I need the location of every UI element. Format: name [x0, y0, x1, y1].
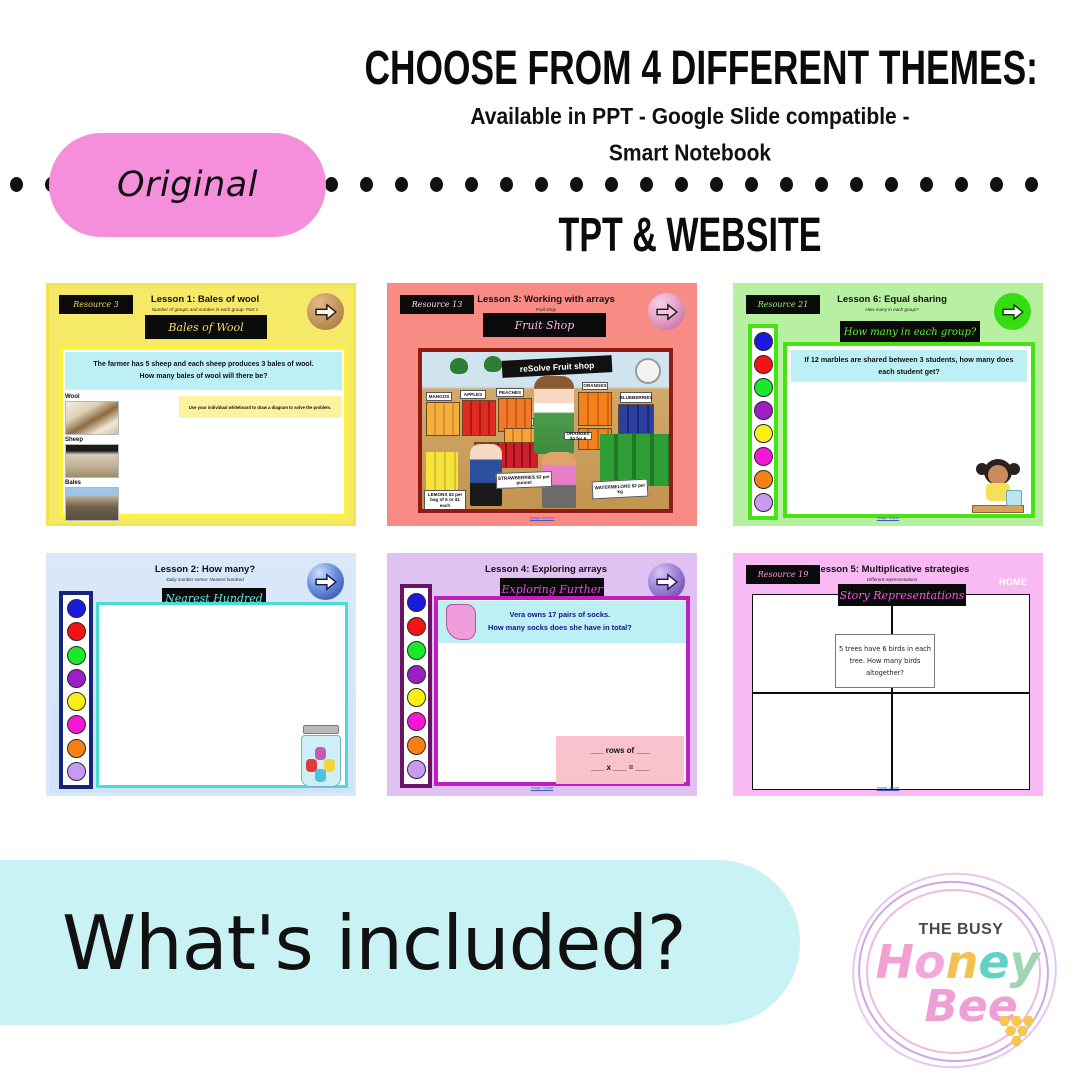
- arrow-right-icon[interactable]: [994, 293, 1031, 330]
- stall-label-apples: APPLES: [460, 390, 486, 399]
- grid-horizontal-line: [753, 692, 1029, 694]
- blueberry-crate: [618, 404, 654, 434]
- divider-dot: [500, 177, 513, 192]
- slide-thumbnail-lesson-1[interactable]: Resource 3 Lesson 1: Bales of wool Numbe…: [46, 283, 356, 526]
- lesson-subtitle: Fruit shop: [456, 307, 636, 312]
- slide-banner: Story Representations: [838, 584, 966, 606]
- honeycomb-icon: [999, 1016, 1039, 1046]
- stall-label-blueberries: BLUEBERRIES: [620, 392, 652, 403]
- wall-clock-icon: [635, 358, 661, 384]
- lesson-title: Lesson 3: Working with arrays: [456, 294, 636, 305]
- color-dot-orange[interactable]: [754, 470, 773, 489]
- divider-dot: [780, 177, 793, 192]
- image-credit[interactable]: Image: reSolve: [390, 516, 694, 520]
- lesson-title: Lesson 2: How many?: [115, 564, 295, 575]
- peach-crate: [498, 398, 532, 432]
- arrow-right-glyph: [315, 303, 337, 321]
- slide-banner: Bales of Wool: [145, 315, 267, 339]
- wool-photo: [65, 401, 119, 435]
- color-dot-magenta[interactable]: [67, 715, 86, 734]
- lesson-title: Lesson 6: Equal sharing: [802, 294, 982, 305]
- fruit-shop-illustration: reSolve Fruit shop MANGOS APPLES PEACHES…: [418, 348, 673, 513]
- plant-icon: [450, 358, 468, 374]
- slide-preview-grid: Resource 3 Lesson 1: Bales of wool Numbe…: [0, 283, 1080, 813]
- color-dot-blue[interactable]: [67, 599, 86, 618]
- divider-dot: [1025, 177, 1038, 192]
- lesson-subtitle: Daily number sense: Nearest hundred: [115, 577, 295, 582]
- resource-badge-label: Resource 21: [758, 301, 809, 309]
- lesson-title: Lesson 4: Exploring arrays: [456, 564, 636, 575]
- photo-label-bales: Bales: [65, 480, 119, 486]
- shop-sign: reSolve Fruit shop: [502, 355, 613, 378]
- slide-banner: How many in each group?: [840, 321, 980, 343]
- whats-included-label: What's included?: [0, 899, 686, 987]
- divider-dot: [955, 177, 968, 192]
- slide-banner-label: Fruit Shop: [515, 319, 575, 332]
- price-tag-strawberries: STRAWBERRIES $3 per punnet: [496, 471, 553, 489]
- divider-dot: [10, 177, 23, 192]
- bales-photo: [65, 487, 119, 521]
- footer-section: What's included? THE BUSY Honey Bee: [0, 855, 1080, 1080]
- resource-badge-label: Resource 13: [412, 301, 463, 309]
- slide-banner-label: How many in each group?: [844, 327, 977, 338]
- color-dot-blue[interactable]: [407, 593, 426, 612]
- four-quadrant-grid: [752, 594, 1030, 790]
- question-strip: The farmer has 5 sheep and each sheep pr…: [65, 352, 342, 390]
- instruction-note-text: Use your individual whiteboard to draw a…: [189, 405, 331, 410]
- arrow-right-icon[interactable]: [307, 293, 344, 330]
- subtitle-line-1: Available in PPT - Google Slide compatib…: [340, 100, 1040, 136]
- stall-label-peaches: PEACHES: [496, 388, 524, 397]
- lesson-title: Lesson 5: Multiplicative strategies: [802, 564, 982, 575]
- image-credit[interactable]: Image: Clipart: [390, 786, 694, 790]
- divider-dot: [535, 177, 548, 192]
- question-line-2: How many bales of wool will there be?: [140, 371, 268, 383]
- apple-crate: [462, 400, 496, 436]
- color-dot-yellow[interactable]: [754, 424, 773, 443]
- color-dot-red[interactable]: [67, 622, 86, 641]
- shopkeeper-figure: [534, 376, 574, 454]
- theme-pill-label: Original: [117, 165, 258, 205]
- color-dot-green[interactable]: [67, 646, 86, 665]
- divider-dot: [605, 177, 618, 192]
- color-dot-yellow[interactable]: [407, 688, 426, 707]
- instruction-note: Use your individual whiteboard to draw a…: [179, 396, 341, 418]
- mango-crate: [426, 402, 460, 436]
- slide-banner-label: Bales of Wool: [168, 321, 243, 334]
- divider-dot: [885, 177, 898, 192]
- color-dot-red[interactable]: [754, 355, 773, 374]
- divider-dot: [430, 177, 443, 192]
- image-credit[interactable]: Image: Clipart: [736, 786, 1040, 790]
- price-tag-watermelons: WATERMELONS $2 per kg: [592, 479, 649, 500]
- divider-dot: [570, 177, 583, 192]
- divider-dot: [675, 177, 688, 192]
- slide-banner-label: Story Representations: [840, 589, 965, 602]
- divider-dot: [325, 177, 338, 192]
- image-credit[interactable]: Image: Clipart: [736, 516, 1040, 520]
- stall-label-oranges: ORANGES: [582, 382, 608, 390]
- divider-dot: [710, 177, 723, 192]
- slide-thumbnail-lesson-4[interactable]: Lesson 4: Exploring arrays Exploring Fur…: [387, 553, 697, 796]
- divider-dot: [850, 177, 863, 192]
- orange-crate-top: [578, 392, 612, 426]
- color-dot-lilac[interactable]: [754, 493, 773, 512]
- color-dot-column[interactable]: [59, 591, 93, 789]
- color-dot-purple[interactable]: [407, 665, 426, 684]
- theme-pill-original[interactable]: Original: [49, 133, 326, 237]
- resource-badge-label: Resource 3: [73, 301, 119, 309]
- price-tag-lemons: LEMONS $3 per bag of 6 or $1 each: [424, 490, 466, 510]
- arrow-right-glyph: [656, 303, 678, 321]
- arrow-right-icon[interactable]: [648, 563, 685, 600]
- photo-stack: Wool Sheep Bales: [65, 392, 119, 521]
- color-dot-purple[interactable]: [754, 401, 773, 420]
- color-dot-magenta[interactable]: [754, 447, 773, 466]
- question-line-2: How many socks does she have in total?: [488, 622, 632, 635]
- divider-dot: [360, 177, 373, 192]
- gummy-bear-jar-illustration: [301, 725, 341, 787]
- sock-icon: [446, 604, 476, 640]
- lesson-subtitle: Number of groups and number in each grou…: [115, 307, 295, 312]
- sheep-photo: [65, 444, 119, 478]
- color-dot-column[interactable]: [400, 584, 432, 788]
- color-dot-green[interactable]: [407, 641, 426, 660]
- slide-banner: Fruit Shop: [483, 313, 606, 337]
- arrow-right-glyph: [656, 573, 678, 591]
- color-dot-magenta[interactable]: [407, 712, 426, 731]
- resource-badge-label: Resource 19: [758, 571, 809, 579]
- color-dot-green[interactable]: [754, 378, 773, 397]
- divider-dot: [395, 177, 408, 192]
- girl-with-marbles-illustration: [970, 457, 1026, 513]
- story-card-text: 5 trees have 6 birds in each tree. How m…: [839, 643, 931, 680]
- color-dot-blue[interactable]: [754, 332, 773, 351]
- slide-banner-label: Exploring Further: [501, 583, 602, 596]
- subtitle-line-2: Smart Notebook: [340, 136, 1040, 172]
- color-dot-lilac[interactable]: [407, 760, 426, 779]
- story-card: 5 trees have 6 birds in each tree. How m…: [835, 634, 935, 688]
- brand-logo: THE BUSY Honey Bee: [852, 873, 1057, 1068]
- header-section: CHOOSE FROM 4 DIFFERENT THEMES: Availabl…: [0, 0, 1080, 272]
- slide-thumbnail-lesson-6[interactable]: Resource 21 Lesson 6: Equal sharing How …: [733, 283, 1043, 526]
- color-dot-lilac[interactable]: [67, 762, 86, 781]
- page-subtitle: Available in PPT - Google Slide compatib…: [340, 100, 1040, 172]
- answer-line-2: ___ x ___ = ___: [591, 760, 649, 777]
- color-dot-purple[interactable]: [67, 669, 86, 688]
- price-tag-oranges: ORANGES $3 for 6: [564, 432, 592, 440]
- slide-thumbnail-lesson-3[interactable]: Resource 13 Lesson 3: Working with array…: [387, 283, 697, 526]
- lesson-subtitle: Different representations: [802, 577, 982, 582]
- question-line-1: The farmer has 5 sheep and each sheep pr…: [93, 359, 313, 371]
- plant-icon: [484, 356, 502, 372]
- arrow-right-glyph: [315, 573, 337, 591]
- home-button-label: HOME: [999, 577, 1027, 587]
- color-dot-orange[interactable]: [407, 736, 426, 755]
- photo-label-sheep: Sheep: [65, 437, 119, 443]
- color-dot-column[interactable]: [748, 324, 778, 520]
- slide-thumbnail-lesson-2[interactable]: Lesson 2: How many? Daily number sense: …: [46, 553, 356, 796]
- question-line-1: If 12 marbles are shared between 3 stude…: [805, 354, 1014, 366]
- color-dot-yellow[interactable]: [67, 692, 86, 711]
- answer-box[interactable]: ___ rows of ___ ___ x ___ = ___: [556, 736, 684, 784]
- arrow-right-icon[interactable]: [648, 293, 685, 330]
- divider-dot: [815, 177, 828, 192]
- slide-thumbnail-lesson-5[interactable]: Resource 19 Lesson 5: Multiplicative str…: [733, 553, 1043, 796]
- divider-dot: [920, 177, 933, 192]
- color-dot-red[interactable]: [407, 617, 426, 636]
- divider-dot: [640, 177, 653, 192]
- divider-dot: [990, 177, 1003, 192]
- lesson-subtitle: How many in each group?: [802, 307, 982, 312]
- arrow-right-icon[interactable]: [307, 563, 344, 600]
- photo-label-wool: Wool: [65, 394, 119, 400]
- divider-dot: [745, 177, 758, 192]
- arrow-right-glyph: [1002, 303, 1024, 321]
- question-line-1: Vera owns 17 pairs of socks.: [488, 609, 632, 622]
- question-line-2: each student get?: [878, 366, 940, 378]
- color-dot-orange[interactable]: [67, 739, 86, 758]
- tpt-website-heading: TPT & WEBSITE: [368, 208, 1012, 263]
- answer-line-1: ___ rows of ___: [590, 743, 650, 760]
- divider-dot: [465, 177, 478, 192]
- page-title: CHOOSE FROM 4 DIFFERENT THEMES:: [365, 42, 1016, 97]
- whats-included-band: What's included?: [0, 860, 800, 1025]
- question-strip: If 12 marbles are shared between 3 stude…: [791, 350, 1027, 382]
- lemon-crate: [426, 452, 458, 492]
- lesson-title: Lesson 1: Bales of wool: [115, 294, 295, 305]
- stall-label-mangos: MANGOS: [426, 392, 452, 401]
